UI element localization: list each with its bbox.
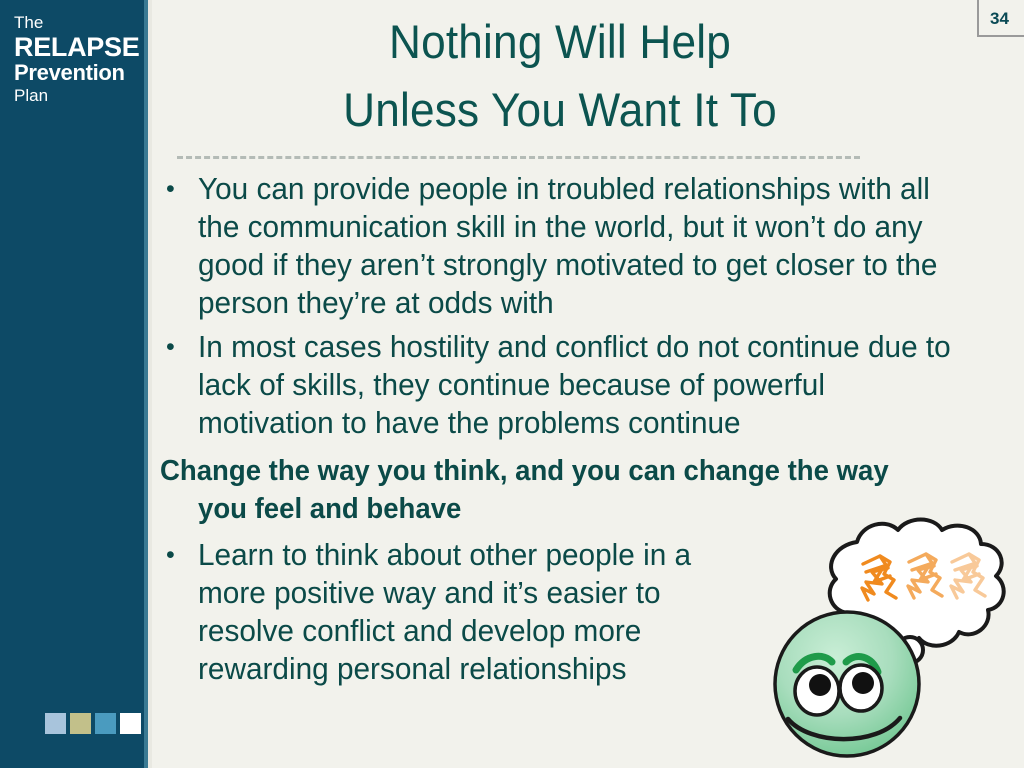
swatch-blue	[95, 713, 116, 734]
pupil-left	[809, 674, 831, 696]
bullet-icon: •	[160, 170, 198, 208]
smiley-face-with-thought-bubble	[762, 512, 1022, 762]
sidebar	[0, 0, 144, 768]
logo-line-the: The	[14, 14, 140, 31]
sidebar-gap	[148, 0, 152, 768]
list-item-text: In most cases hostility and conflict do …	[198, 328, 968, 442]
list-item-text: Learn to think about other people in a m…	[198, 536, 745, 688]
swatch-light-blue	[45, 713, 66, 734]
swatch-white	[120, 713, 141, 734]
brand-logo: The RELAPSE Prevention Plan	[14, 14, 140, 104]
emphasis-line-1: Change the way you think, and you can ch…	[160, 455, 889, 487]
list-item: • In most cases hostility and conflict d…	[160, 328, 1000, 442]
swatch-strip	[45, 713, 141, 734]
face	[775, 612, 919, 756]
logo-line-plan: Plan	[14, 87, 140, 104]
bullet-icon: •	[160, 536, 198, 574]
logo-line-prevention: Prevention	[14, 62, 140, 84]
swatch-khaki	[70, 713, 91, 734]
bullet-icon: •	[160, 328, 198, 366]
slide: The RELAPSE Prevention Plan 34 Nothing W…	[0, 0, 1024, 768]
logo-line-relapse: RELAPSE	[14, 34, 140, 61]
list-item: • You can provide people in troubled rel…	[160, 170, 1000, 322]
pupil-right	[852, 672, 874, 694]
page-title: Nothing Will Help Unless You Want It To	[184, 8, 936, 144]
page-number-text: 34	[990, 9, 1009, 29]
list-item-text: You can provide people in troubled relat…	[198, 170, 968, 322]
page-title-line-1: Nothing Will Help	[184, 8, 936, 76]
page-number-badge: 34	[977, 0, 1024, 37]
dashed-divider	[177, 156, 860, 159]
page-title-line-2: Unless You Want It To	[184, 76, 936, 144]
